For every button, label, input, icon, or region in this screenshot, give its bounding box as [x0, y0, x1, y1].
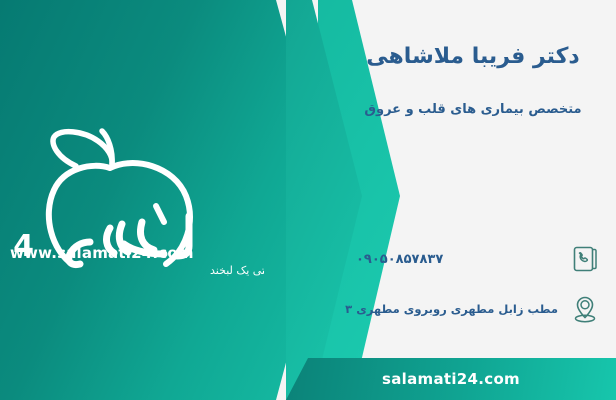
doctor-profile-card: 24 به راحتی یک لبخند www.salamati24.com …	[0, 0, 616, 400]
clinic-address: مطب زابل مطهری روبروی مطهری ۱۳ x	[344, 302, 558, 316]
doctor-specialty: متخصص بیماری های قلب و عروق	[348, 100, 598, 120]
map-pin-icon	[568, 292, 602, 326]
doctor-name: دکتر فریبا ملاشاهی	[348, 42, 598, 72]
contact-row-phone[interactable]: ۰۹۰۵۰۸۵۷۸۳۷	[344, 240, 602, 278]
svg-text:به راحتی یک لبخند: به راحتی یک لبخند	[210, 264, 264, 277]
contact-list: ۰۹۰۵۰۸۵۷۸۳۷ مطب زابل مطهری روبروی مطهری …	[344, 240, 602, 340]
phone-book-icon	[568, 242, 602, 276]
logo-website-url: www.salamati24.com	[10, 244, 250, 262]
contact-row-address[interactable]: مطب زابل مطهری روبروی مطهری ۱۳ x	[344, 290, 602, 328]
card-content: دکتر فریبا ملاشاهی متخصص بیماری های قلب …	[330, 0, 616, 400]
phone-number: ۰۹۰۵۰۸۵۷۸۳۷	[344, 252, 558, 267]
